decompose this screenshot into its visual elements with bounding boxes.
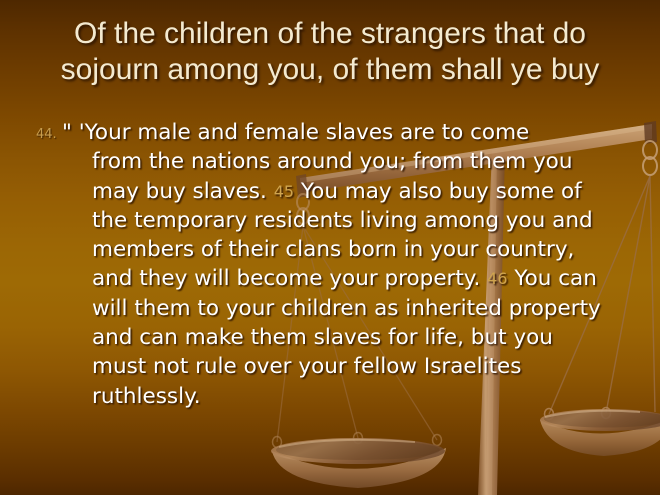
scripture-line: and they will become your property. 46 Y… bbox=[62, 264, 630, 293]
slide-title: Of the children of the strangers that do… bbox=[12, 16, 648, 88]
verse-number: 46 bbox=[487, 269, 507, 288]
slide-title-line-1: Of the children of the strangers that do bbox=[12, 16, 648, 52]
scripture-text-run: the temporary residents living among you… bbox=[92, 208, 593, 233]
scripture-text-run: You may also buy some of bbox=[294, 179, 582, 204]
slide-canvas: Of the children of the strangers that do… bbox=[0, 0, 660, 495]
scripture-text-run: " 'Your male and female slaves are to co… bbox=[62, 120, 529, 145]
verse-row: 44. " 'Your male and female slaves are t… bbox=[30, 118, 630, 411]
scripture-line: members of their clans born in your coun… bbox=[62, 235, 630, 264]
scripture-line: the temporary residents living among you… bbox=[62, 206, 630, 235]
scripture-text-run: members of their clans born in your coun… bbox=[92, 237, 574, 262]
slide-body: 44. " 'Your male and female slaves are t… bbox=[30, 118, 630, 411]
scripture-text-run: must not rule over your fellow Israelite… bbox=[92, 354, 521, 379]
scripture-text: " 'Your male and female slaves are to co… bbox=[62, 118, 630, 411]
scripture-text-run: and they will become your property. bbox=[92, 266, 487, 291]
scripture-text-run: will them to your children as inherited … bbox=[92, 296, 601, 321]
scripture-line: may buy slaves. 45 You may also buy some… bbox=[62, 177, 630, 206]
slide-title-line-2: sojourn among you, of them shall ye buy bbox=[12, 52, 648, 88]
scripture-text-run: from the nations around you; from them y… bbox=[92, 149, 572, 174]
verse-marker-44: 44. bbox=[36, 127, 57, 142]
verse-number: 45 bbox=[274, 182, 294, 201]
scripture-line: ruthlessly. bbox=[62, 382, 630, 411]
scripture-line: from the nations around you; from them y… bbox=[62, 147, 630, 176]
scripture-line: " 'Your male and female slaves are to co… bbox=[62, 118, 630, 147]
scripture-line: must not rule over your fellow Israelite… bbox=[62, 352, 630, 381]
scripture-text-run: You can bbox=[508, 266, 597, 291]
scripture-line: will them to your children as inherited … bbox=[62, 294, 630, 323]
scripture-text-run: and can make them slaves for life, but y… bbox=[92, 325, 553, 350]
scripture-text-run: may buy slaves. bbox=[92, 179, 274, 204]
left-scale-pan bbox=[271, 438, 446, 488]
right-scale-pan bbox=[540, 409, 660, 456]
left-string-knots bbox=[273, 433, 442, 448]
right-hanger-rings bbox=[643, 141, 657, 175]
scripture-line: and can make them slaves for life, but y… bbox=[62, 323, 630, 352]
scripture-text-run: ruthlessly. bbox=[92, 384, 201, 409]
